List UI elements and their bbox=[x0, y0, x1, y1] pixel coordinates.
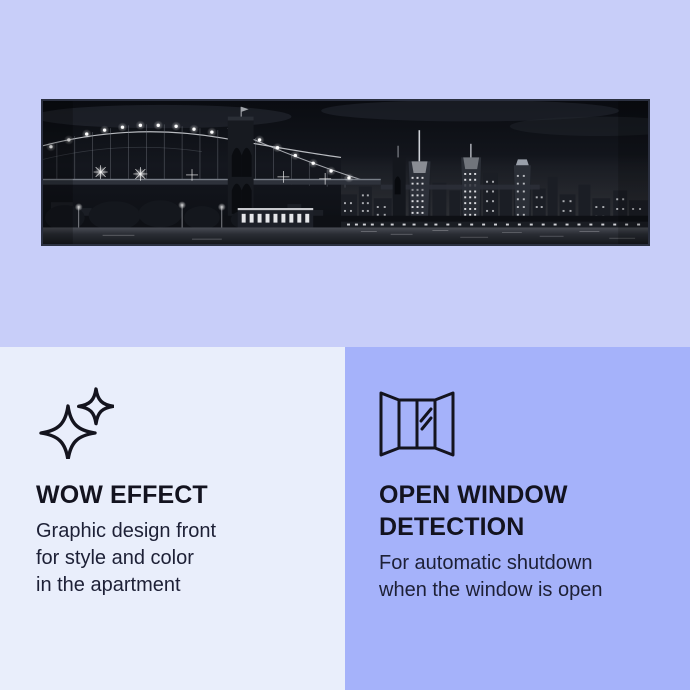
feature-card-body: Graphic design front for style and color… bbox=[36, 518, 309, 599]
open-window-icon bbox=[379, 385, 660, 463]
feature-cards: WOW EFFECT Graphic design front for styl… bbox=[0, 347, 690, 690]
photo-brooklyn-bridge-night bbox=[43, 101, 648, 244]
feature-panel-page: WOW EFFECT Graphic design front for styl… bbox=[0, 0, 690, 690]
feature-card-title: OPEN WINDOW DETECTION bbox=[379, 479, 660, 543]
hero-section bbox=[0, 0, 690, 347]
hero-photo-frame bbox=[41, 99, 650, 246]
feature-card-title: WOW EFFECT bbox=[36, 479, 309, 511]
feature-card-body: For automatic shutdown when the window i… bbox=[379, 550, 660, 604]
feature-card-open-window-detection: OPEN WINDOW DETECTION For automatic shut… bbox=[345, 347, 690, 690]
sparkle-stars-icon bbox=[36, 385, 309, 463]
feature-card-wow-effect: WOW EFFECT Graphic design front for styl… bbox=[0, 347, 345, 690]
